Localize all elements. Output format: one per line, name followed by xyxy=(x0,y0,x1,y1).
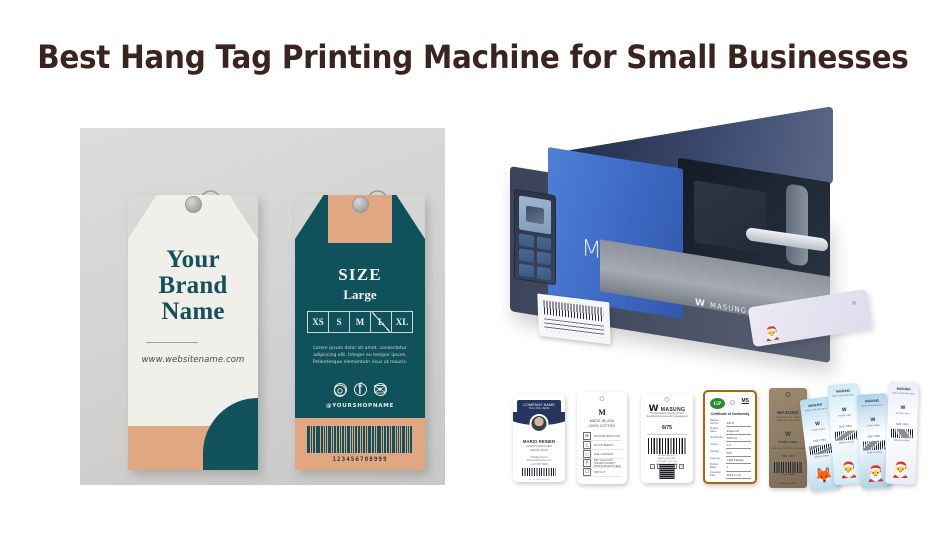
printer-key-6[interactable] xyxy=(537,266,552,280)
certificate-row-key: Inspection Date xyxy=(709,471,726,479)
festive-tag-origin: MADE IN CHINA xyxy=(887,439,917,442)
barcode-bar xyxy=(355,426,357,453)
care-symbol-icon: □ xyxy=(583,450,591,458)
barcode-bar xyxy=(353,426,354,453)
care-instruction-text: DO NOT BLEACH xyxy=(594,444,613,447)
care-instruction-row: ⓟDRY CLEAN ANY SOLVENT EXCEPT TRICHLOROE… xyxy=(583,459,622,468)
certificate-of-conformity-sample: GP MS Certificate of Conformity Material… xyxy=(703,390,757,484)
festive-tags-cluster: MASUNGPRINT YOUR OWN TAGSWSTUDIO LABELSI… xyxy=(805,380,930,498)
brand-website: www.websitename.com xyxy=(128,355,258,365)
masung-barcode xyxy=(648,438,686,454)
kraft-sub: PROFESSIONAL LABEL PRINTING SOLUTION xyxy=(772,417,804,423)
festive-tag-sub: PRINT YOUR OWN TAGS xyxy=(803,408,829,414)
barcode-bar xyxy=(384,426,386,453)
kraft-subtitle: HANG TAG PRINTING FOR JEANS xyxy=(771,448,805,450)
barcode-bar xyxy=(316,426,317,453)
printer-icon xyxy=(526,206,544,225)
id-badge-sample: COMPANY NAME TAGLINE HERE MARIO REINER G… xyxy=(513,394,565,482)
masung-w-icon: W xyxy=(695,298,706,310)
printer-key-4[interactable] xyxy=(537,251,552,265)
size-option-l-selected: L xyxy=(371,312,392,332)
barcode-bar xyxy=(342,426,344,453)
barcode-bars xyxy=(307,426,413,453)
festive-tag-origin: MADE IN CHINA xyxy=(860,451,890,455)
festive-tag-barcode xyxy=(835,430,858,441)
page-root: Best Hang Tag Printing Machine for Small… xyxy=(0,0,930,540)
barcode-bar xyxy=(382,426,383,453)
barcode-bar xyxy=(390,426,391,453)
festive-tag-sub: PRINT YOUR OWN TAGS xyxy=(830,394,856,398)
certificate-row: Inspection Date2024.11.19 xyxy=(709,471,751,479)
masung-label-desc: Thermal transfer label for product ident… xyxy=(646,413,688,419)
care-instruction-row: ☐DRY FLAT xyxy=(583,468,622,477)
festive-tag-line: STUDIO LABEL xyxy=(860,424,886,428)
festive-tag-barcode xyxy=(891,429,913,439)
certificate-row-value: 500 xyxy=(726,449,751,456)
certificate-row-value: 2024.11.19 xyxy=(726,471,751,479)
size-heading: SIZE xyxy=(295,265,425,285)
size-option-s: S xyxy=(329,312,350,332)
social-icons-row: ◎ f ✉ xyxy=(295,383,425,396)
kraft-barcode xyxy=(774,462,802,473)
certificate-row: Material Number02111 xyxy=(709,419,751,427)
certificate-row-value: 1.0 xyxy=(726,442,751,449)
barcode-bar xyxy=(345,426,346,453)
masung-label-value: 6/75 xyxy=(641,425,693,431)
size-value: Large xyxy=(295,287,425,303)
barcode-bar xyxy=(378,426,381,453)
care-symbol-icon: ⊖ xyxy=(583,432,591,440)
certificate-row-key: Product Batch xyxy=(709,463,726,471)
tag-hole-icon xyxy=(600,396,605,401)
printer-key-5[interactable] xyxy=(519,263,534,277)
certificate-row: InspectorChen Feifang xyxy=(709,456,751,463)
brand-hang-tag: Your Brand Name www.websitename.com xyxy=(128,195,258,470)
certificate-row: Quantity500 xyxy=(709,449,751,456)
output-text-lines xyxy=(544,318,604,337)
brand-line-1: Your xyxy=(128,247,258,273)
brand-tag-surface: Your Brand Name www.websitename.com xyxy=(128,195,258,470)
size-options-grid: XS S M L XL xyxy=(307,311,413,333)
certificate-table: Material Number02111Product NamePaper ro… xyxy=(709,419,751,479)
masung-w-icon: W xyxy=(858,416,888,424)
barcode-bar xyxy=(358,426,361,453)
page-title: Best Hang Tag Printing Machine for Small… xyxy=(37,38,893,76)
barcode-bar xyxy=(332,426,333,453)
brand-name-block: Your Brand Name xyxy=(128,247,258,325)
barcode-bar xyxy=(340,426,341,453)
facebook-icon: f xyxy=(354,383,367,396)
icon-cross: ✕ xyxy=(679,464,684,469)
brand-line-2: Brand xyxy=(128,273,258,299)
brand-quarter-circle xyxy=(203,398,258,470)
barcode-bar xyxy=(377,426,378,453)
masung-w-icon: W xyxy=(769,432,807,438)
care-origin: MADE IN USA 100% COTTON xyxy=(577,419,627,429)
care-instructions-list: ⊖MACHINE WASH COLD△DO NOT BLEACH□LINE / … xyxy=(583,432,622,477)
printer-internal-mech xyxy=(694,180,766,254)
festive-tag-barcode xyxy=(863,440,885,450)
kraft-number: SIZE / 0001 xyxy=(769,455,807,458)
care-instruction-text: LINE / LOW HEAT xyxy=(594,453,614,456)
certificate-row: Version1.0 xyxy=(709,442,751,449)
barcode-band: 123456788999 xyxy=(295,418,425,470)
size-tag-surface: SIZE Large XS S M L XL Lorem ipsum dolor… xyxy=(295,195,425,470)
festive-tag-line: STUDIO LABEL xyxy=(805,428,831,434)
festive-tag-barcode xyxy=(809,444,832,456)
certificate-row-key: Inspector xyxy=(709,456,726,463)
care-instruction-text: DRY FLAT xyxy=(594,471,605,474)
care-instruction-text: DRY CLEAN ANY SOLVENT EXCEPT TRICHLOROET… xyxy=(594,459,622,468)
care-label-sample: M MADE IN USA 100% COTTON ⊖MACHINE WASH … xyxy=(577,392,627,484)
certificate-row-value: 500/box xyxy=(726,435,751,442)
care-origin-line-2: 100% COTTON xyxy=(577,424,627,429)
certificate-row-key: Version xyxy=(709,442,726,449)
printer-key-3[interactable] xyxy=(519,248,534,262)
printer-control-panel[interactable] xyxy=(514,189,556,286)
barcode-bar xyxy=(361,426,362,453)
barcode-bar xyxy=(307,426,310,453)
masung-divider xyxy=(647,434,687,435)
festive-tag-number: SIZE / 0001 xyxy=(832,424,858,429)
size-option-m: M xyxy=(350,312,371,332)
printer-keypad[interactable] xyxy=(519,233,551,280)
certificate-row: Product NamePaper roll xyxy=(709,427,751,435)
barcode-bar xyxy=(387,426,389,453)
festive-tag-4: MASUNGPRINT YOUR OWN TAGSWSTUDIO LABELSI… xyxy=(885,382,919,485)
id-badge-contact: hello@mail.com www.websitename.com +123 … xyxy=(513,456,565,466)
id-badge-name: MARIO REINER xyxy=(513,439,565,444)
barcode-bar xyxy=(351,426,352,453)
festive-tag-sub: PRINT YOUR OWN TAGS xyxy=(890,393,916,396)
barcode-bar xyxy=(402,426,405,453)
barcode-bar xyxy=(328,426,331,453)
festive-tag-number: SIZE / 0001 xyxy=(861,434,887,438)
certificate-row-value: 1 xyxy=(726,463,751,471)
twitter-icon: ✉ xyxy=(374,383,387,396)
barcode-bar xyxy=(321,426,323,453)
care-symbol-icon: △ xyxy=(583,441,591,449)
barcode-bar xyxy=(398,426,400,453)
barcode-bar xyxy=(326,426,327,453)
certificate-row-value: Chen Feifang xyxy=(726,456,751,463)
sample-labels-row: COMPANY NAME TAGLINE HERE MARIO REINER G… xyxy=(455,382,930,502)
tag-hole-icon xyxy=(852,301,857,306)
printed-label-output xyxy=(537,293,610,344)
barcode-bar xyxy=(334,426,336,453)
qr-code-icon xyxy=(660,464,675,479)
festive-tag-number: SIZE / 0001 xyxy=(806,437,832,443)
barcode-bar xyxy=(311,426,312,453)
care-size: M xyxy=(577,408,627,417)
care-instruction-row: ⊖MACHINE WASH COLD xyxy=(583,432,622,441)
gp-logo-icon: GP xyxy=(710,398,725,409)
barcode-bar xyxy=(337,426,340,453)
brand-divider xyxy=(146,342,198,343)
certificate-title: Certificate of Conformity xyxy=(705,412,755,416)
certificate-row-key: Product Name xyxy=(709,427,726,435)
barcode-bar xyxy=(317,426,320,453)
printer-roller xyxy=(786,183,808,267)
barcode-bar xyxy=(400,426,401,453)
barcode-bar xyxy=(410,426,412,453)
barcode-bar xyxy=(372,426,374,453)
certificate-row-value: 02111 xyxy=(726,419,751,427)
barcode-bar xyxy=(347,426,350,453)
certificate-row-key: Material Number xyxy=(709,419,726,427)
size-option-xl: XL xyxy=(392,312,412,332)
care-instruction-text: MACHINE WASH COLD xyxy=(594,435,620,438)
festive-tag-heading: MASUNG xyxy=(859,398,885,403)
avatar xyxy=(530,414,549,433)
kraft-code: 12345 678900 xyxy=(769,474,807,476)
kraft-origin: MADE IN CHINA xyxy=(769,483,807,485)
id-badge-tagline: TAGLINE HERE xyxy=(517,407,561,410)
festive-tag-number: SIZE / 0001 xyxy=(889,423,915,427)
santa-character-icon: 🎅 xyxy=(763,325,781,343)
barcode-bar xyxy=(396,426,397,453)
barcode-bar xyxy=(408,426,409,453)
certificate-row: Product Batch1 xyxy=(709,463,751,471)
care-symbol-icon: ☐ xyxy=(583,468,591,476)
kraft-title: STUDIO LABEL xyxy=(771,441,805,444)
barcode-bar xyxy=(392,426,395,453)
barcode-bar xyxy=(313,426,315,453)
barcode-bar xyxy=(406,426,407,453)
id-badge-role: GRAPHIC DESIGNER DESIGN TEAM xyxy=(513,445,565,453)
care-instruction-row: △DO NOT BLEACH xyxy=(583,441,622,450)
size-option-xs: XS xyxy=(308,312,329,332)
size-hang-tag: SIZE Large XS S M L XL Lorem ipsum dolor… xyxy=(295,195,425,470)
printer-lcd-screen xyxy=(519,195,551,234)
barcode-digits: 123456788999 xyxy=(295,456,425,463)
festive-tag-line: STUDIO LABEL xyxy=(832,414,858,418)
festive-tag-sub: PRINT YOUR OWN TAGS xyxy=(859,404,885,408)
tag-hole-icon xyxy=(730,400,735,405)
certificate-row-key: Specification xyxy=(709,435,726,442)
festive-tag-heading: MASUNG xyxy=(890,387,916,392)
barcode-bar xyxy=(363,426,365,453)
certificate-row-value: Paper roll xyxy=(726,427,751,435)
barcode-bar xyxy=(368,426,371,453)
festive-tag-line: STUDIO LABEL xyxy=(890,413,916,416)
icon-circle: ○ xyxy=(650,464,655,469)
id-badge-barcode xyxy=(522,468,556,476)
festive-character-icon: 🎅 xyxy=(885,461,916,480)
printer-key-2[interactable] xyxy=(537,236,552,250)
certificate-row-key: Quantity xyxy=(709,449,726,456)
care-symbol-icon: ⓟ xyxy=(583,459,591,467)
brand-tag-grommet xyxy=(185,196,202,213)
certificate-row: Specification500/box xyxy=(709,435,751,442)
festive-tag-origin: MADE IN CHINA xyxy=(832,441,862,445)
barcode-bar xyxy=(375,426,376,453)
tag-hole-icon xyxy=(786,392,791,397)
id-badge-footer: ID: 00 1234 5678 90 xyxy=(513,479,565,481)
masung-w-icon: W xyxy=(829,406,859,414)
tag-hole-icon xyxy=(665,397,670,402)
certificate-code: MS xyxy=(742,398,750,404)
size-tag-grommet xyxy=(352,196,369,213)
masung-w-icon: W xyxy=(888,404,918,411)
masung-barcode-label-sample: W MASUNG Thermal transfer label for prod… xyxy=(641,393,693,483)
barcode-bar xyxy=(366,426,367,453)
barcode-bar xyxy=(324,426,325,453)
festive-tag-heading: MASUNG xyxy=(830,388,856,394)
brand-line-3: Name xyxy=(128,299,258,325)
instagram-icon: ◎ xyxy=(334,383,347,396)
shop-handle: @YOURSHOPNAME xyxy=(295,403,425,409)
size-tag-body-text: Lorem ipsum dolor sit amet, consectetur … xyxy=(307,345,413,366)
printer-key-1[interactable] xyxy=(519,233,534,247)
